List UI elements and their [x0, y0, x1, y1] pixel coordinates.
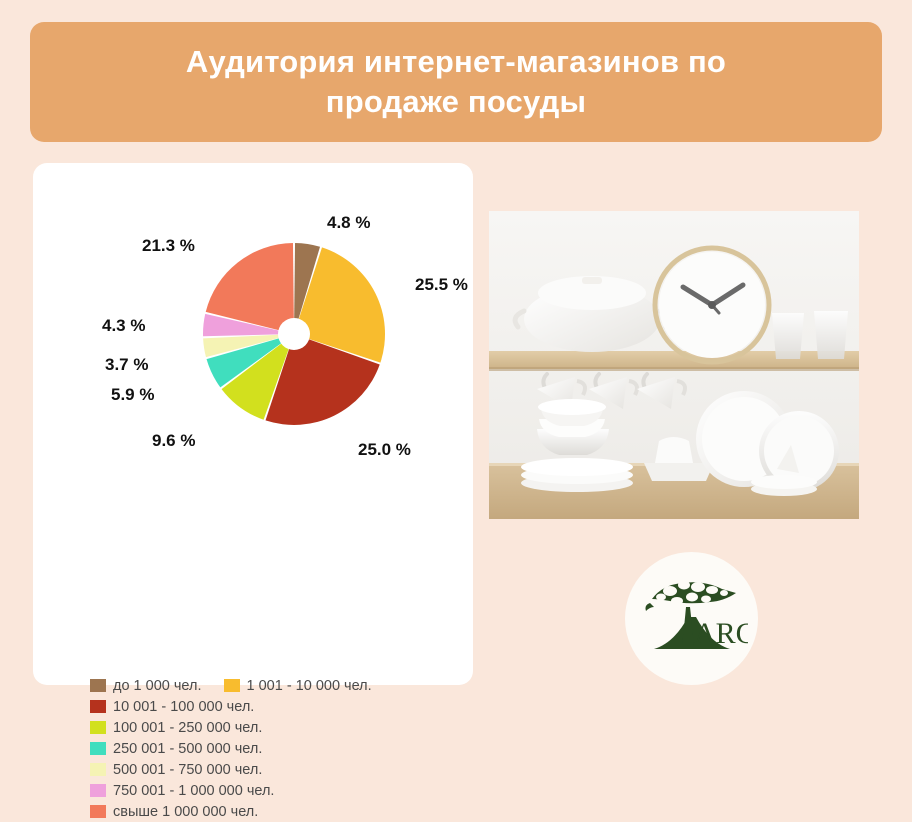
- legend-color-swatch: [90, 805, 106, 818]
- pie-chart: 4.8 %25.5 %25.0 %9.6 %5.9 %3.7 %4.3 %21.…: [33, 163, 473, 503]
- legend-item-label: 750 001 - 1 000 000 чел.: [113, 783, 274, 799]
- legend-row: 250 001 - 500 000 чел.: [90, 738, 470, 759]
- dishware-photo: [489, 211, 859, 519]
- pie-value-label: 4.8 %: [327, 213, 370, 233]
- legend-row: 750 001 - 1 000 000 чел.: [90, 780, 470, 801]
- title-banner: Аудитория интернет-магазинов по продаже …: [30, 22, 882, 142]
- legend-row: 10 001 - 100 000 чел.: [90, 696, 470, 717]
- legend-color-swatch: [90, 784, 106, 797]
- legend-item-label: 10 001 - 100 000 чел.: [113, 699, 254, 715]
- legend-row: до 1 000 чел.1 001 - 10 000 чел.: [90, 675, 470, 696]
- legend-color-swatch: [90, 742, 106, 755]
- pie-value-label: 5.9 %: [111, 385, 154, 405]
- legend-item[interactable]: 250 001 - 500 000 чел.: [90, 741, 262, 757]
- arg-logo-mark: ARG: [636, 563, 748, 675]
- pie-value-label: 21.3 %: [142, 236, 195, 256]
- legend-item[interactable]: 1 001 - 10 000 чел.: [224, 678, 372, 694]
- legend-item[interactable]: 100 001 - 250 000 чел.: [90, 720, 262, 736]
- donut-hole: [278, 318, 310, 350]
- legend-color-swatch: [90, 679, 106, 692]
- dishware-photo-illustration: [489, 211, 859, 519]
- legend-item-label: до 1 000 чел.: [113, 678, 202, 694]
- legend-item-label: 100 001 - 250 000 чел.: [113, 720, 262, 736]
- legend-item-label: свыше 1 000 000 чел.: [113, 804, 258, 820]
- chart-legend: до 1 000 чел.1 001 - 10 000 чел.10 001 -…: [90, 675, 470, 822]
- legend-color-swatch: [90, 700, 106, 713]
- legend-color-swatch: [90, 721, 106, 734]
- legend-row: 100 001 - 250 000 чел.: [90, 717, 470, 738]
- pie-value-label: 9.6 %: [152, 431, 195, 451]
- pie-value-label: 4.3 %: [102, 316, 145, 336]
- legend-item[interactable]: 500 001 - 750 000 чел.: [90, 762, 262, 778]
- legend-color-swatch: [90, 763, 106, 776]
- pie-value-label: 25.0 %: [358, 440, 411, 460]
- legend-row: свыше 1 000 000 чел.: [90, 801, 470, 822]
- legend-item-label: 1 001 - 10 000 чел.: [247, 678, 372, 694]
- legend-item[interactable]: 10 001 - 100 000 чел.: [90, 699, 254, 715]
- legend-color-swatch: [224, 679, 240, 692]
- legend-item[interactable]: 750 001 - 1 000 000 чел.: [90, 783, 274, 799]
- legend-row: 500 001 - 750 000 чел.: [90, 759, 470, 780]
- page-title: Аудитория интернет-магазинов по продаже …: [136, 42, 776, 121]
- arg-logo: ARG: [625, 552, 758, 685]
- pie-value-label: 25.5 %: [415, 275, 468, 295]
- arg-logo-text: ARG: [694, 617, 748, 650]
- legend-item[interactable]: свыше 1 000 000 чел.: [90, 804, 258, 820]
- chart-card: 4.8 %25.5 %25.0 %9.6 %5.9 %3.7 %4.3 %21.…: [33, 163, 473, 685]
- legend-item-label: 500 001 - 750 000 чел.: [113, 762, 262, 778]
- legend-item[interactable]: до 1 000 чел.: [90, 678, 202, 694]
- legend-item-label: 250 001 - 500 000 чел.: [113, 741, 262, 757]
- pie-value-label: 3.7 %: [105, 355, 148, 375]
